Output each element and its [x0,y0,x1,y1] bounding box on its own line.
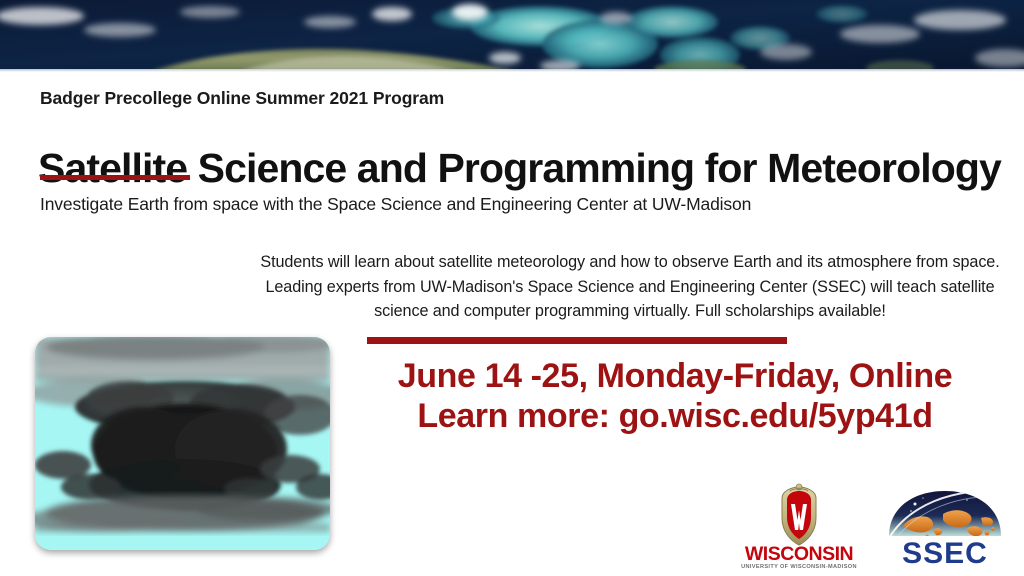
cta-dates: June 14 -25, Monday-Friday, Online [330,356,1020,396]
satellite-banner-image [0,0,1024,72]
page-title: Satellite Science and Programming for Me… [38,145,1001,192]
ssec-globe-graphic: SSEC [881,484,1009,568]
uw-madison-logo: WISCONSIN UNIVERSITY OF WISCONSIN-MADISO… [735,482,863,570]
cta-link[interactable]: Learn more: go.wisc.edu/5yp41d [330,396,1020,436]
uw-wordmark-text: WISCONSIN [745,543,853,565]
storm-cloud-graphic [35,337,330,550]
uw-tagline-text: UNIVERSITY OF WISCONSIN-MADISON [741,564,857,570]
banner-bottom-edge [0,69,1024,72]
banner-earth-graphic [0,0,1024,72]
cta-accent-rule [367,337,787,344]
body-paragraph: Students will learn about satellite mete… [250,250,1010,324]
thunderstorm-satellite-photo [35,337,330,550]
cta-block: June 14 -25, Monday-Friday, Online Learn… [330,356,1020,436]
ssec-wordmark-text: SSEC [902,537,988,568]
ssec-logo: SSEC [881,484,1009,568]
title-accent-rule [40,175,190,180]
page-subtitle: Investigate Earth from space with the Sp… [40,194,751,215]
program-eyebrow: Badger Precollege Online Summer 2021 Pro… [40,88,444,109]
uw-crest-graphic: WISCONSIN UNIVERSITY OF WISCONSIN-MADISO… [735,482,863,570]
